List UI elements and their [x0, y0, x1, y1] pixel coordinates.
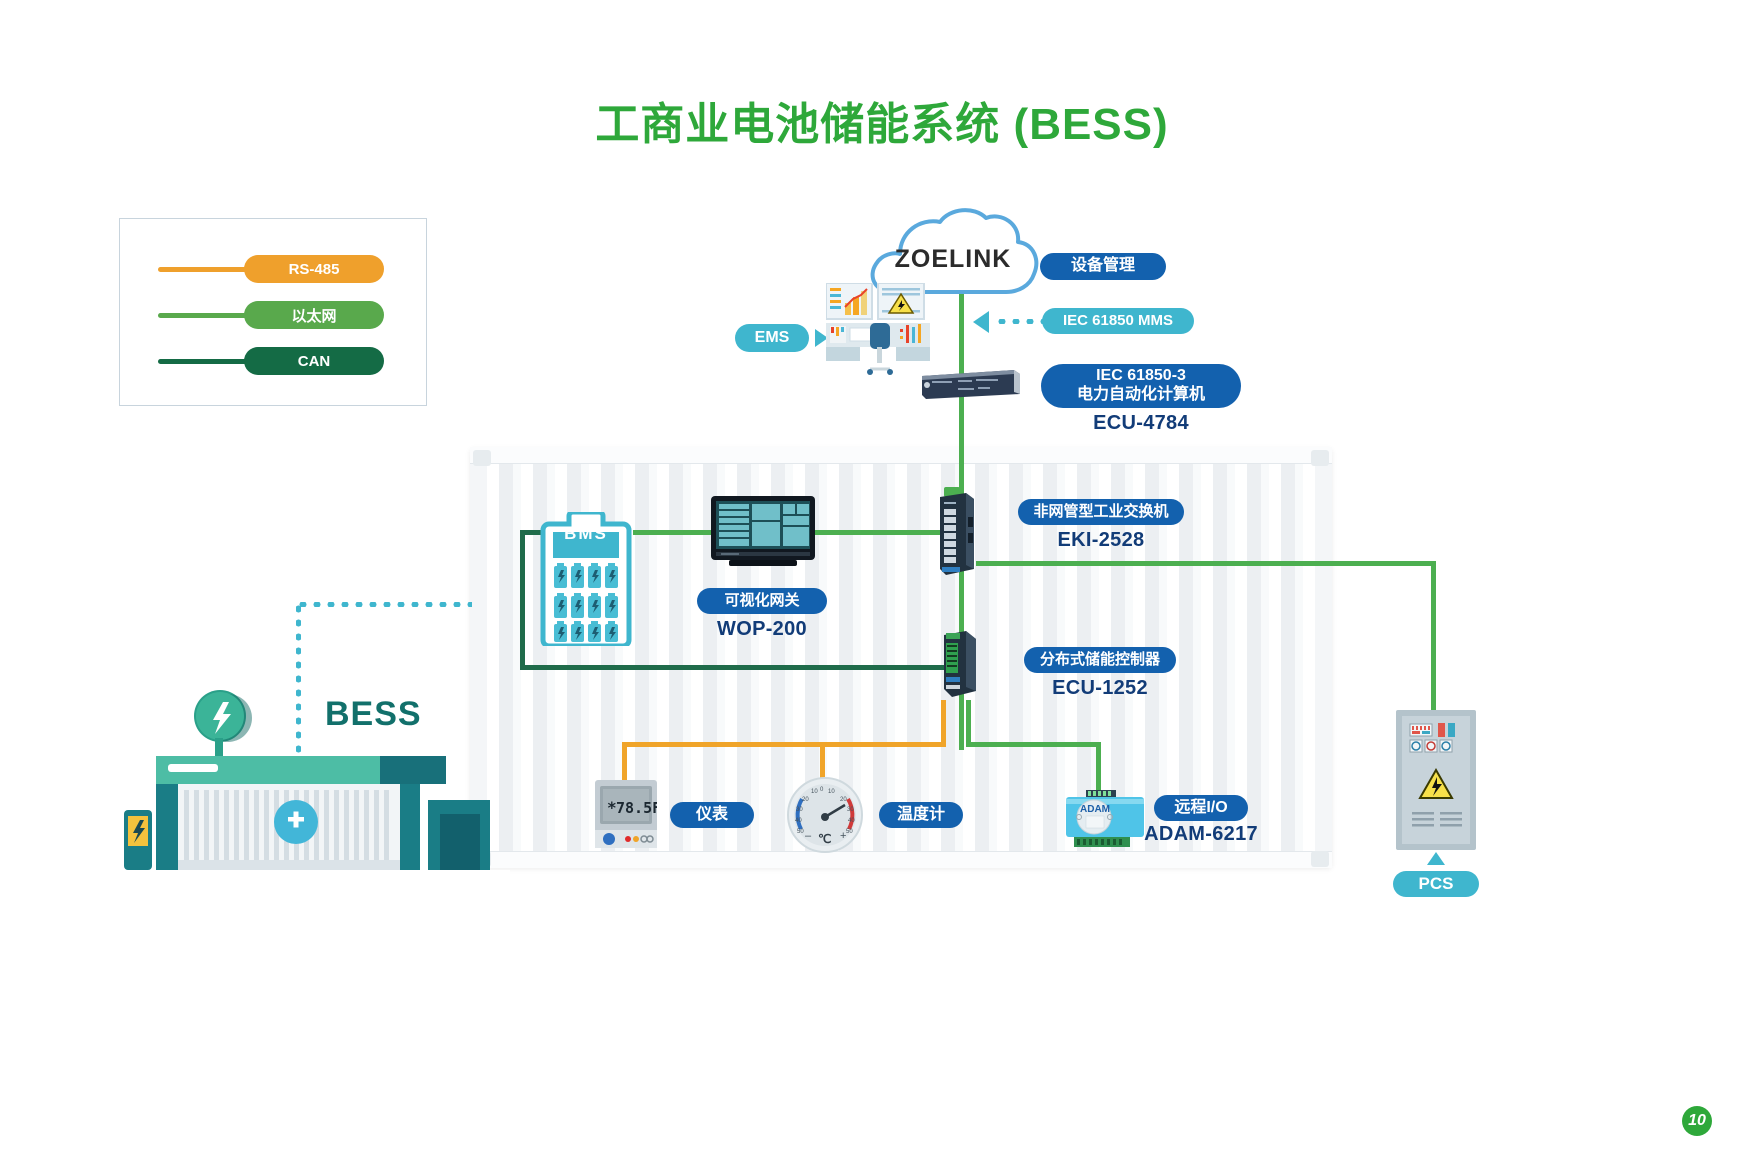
adam6217-pill[interactable]: 远程I/O — [1154, 795, 1248, 821]
pcs-pill[interactable]: PCS — [1393, 871, 1479, 897]
ethernet-line-ecu1252-down — [966, 700, 971, 746]
bess-label: BESS — [325, 695, 422, 734]
meter-pill[interactable]: 仪表 — [670, 802, 754, 828]
svg-text:78.5F: 78.5F — [616, 799, 657, 817]
ecu1252-icon — [940, 631, 980, 703]
ecu1252-model: ECU-1252 — [1024, 677, 1176, 700]
page-number-badge: 10 — [1682, 1106, 1712, 1136]
wop200-model: WOP-200 — [697, 618, 827, 641]
ems-workstation-icon — [826, 283, 930, 378]
legend-line-ethernet — [158, 313, 250, 318]
eki2528-model: EKI-2528 — [1018, 529, 1184, 552]
meter-icon: * 78.5F — [595, 780, 657, 848]
legend-line-can — [158, 359, 250, 364]
ecu1252-pill[interactable]: 分布式储能控制器 — [1024, 647, 1176, 673]
svg-text:30: 30 — [796, 807, 803, 813]
hmi-panel-icon — [711, 496, 815, 568]
iec-mms-pill[interactable]: IEC 61850 MMS — [1042, 308, 1194, 334]
thermometer-pill[interactable]: 温度计 — [879, 802, 963, 828]
legend-label-rs485: RS-485 — [244, 255, 384, 283]
container-corner-br — [1311, 851, 1329, 867]
legend-box: RS-485 以太网 CAN — [119, 218, 427, 406]
eki2528-pill[interactable]: 非网管型工业交换机 — [1018, 499, 1184, 525]
rs485-line-bus-h — [622, 742, 946, 747]
svg-text:–: – — [805, 830, 812, 842]
svg-text:℃: ℃ — [818, 832, 831, 846]
ethernet-line-ecu1252-to-adam-h — [966, 742, 1101, 747]
network-switch-icon — [936, 487, 978, 577]
svg-text:50: 50 — [846, 829, 853, 835]
can-line-bms-left-v — [520, 530, 525, 670]
ecu4784-label-line1: IEC 61850-3 — [1096, 367, 1186, 386]
rs485-line-to-ecu1252 — [941, 700, 946, 746]
svg-text:ADAM: ADAM — [1080, 804, 1110, 815]
svg-text:20: 20 — [840, 797, 847, 803]
page-title: 工商业电池储能系统 (BESS) — [0, 88, 1764, 152]
can-line-bms-to-ecu1252 — [520, 665, 950, 670]
legend-label-can: CAN — [244, 347, 384, 375]
dotted-line-bess-h — [296, 602, 472, 607]
svg-text:50: 50 — [797, 829, 804, 835]
legend-item-rs485: RS-485 — [120, 255, 426, 283]
container-corner-tl — [473, 450, 491, 466]
ems-pill[interactable]: EMS — [735, 324, 809, 352]
mms-arrow-icon — [973, 311, 989, 333]
diagram-canvas: 工商业电池储能系统 (BESS) RS-485 以太网 CAN — [0, 0, 1764, 1172]
wop200-pill[interactable]: 可视化网关 — [697, 588, 827, 614]
container-bottom-rail — [470, 851, 1332, 868]
legend-item-can: CAN — [120, 347, 426, 375]
bms-label: BMS — [539, 524, 633, 544]
cloud-label: ZOELINK — [866, 245, 1040, 274]
svg-text:10: 10 — [828, 789, 835, 795]
adam6217-model: ADAM-6217 — [1132, 823, 1270, 846]
ecu4784-pill[interactable]: IEC 61850-3 电力自动化计算机 — [1041, 364, 1241, 408]
legend-line-rs485 — [158, 267, 250, 272]
ethernet-line-switch-to-pcs-h — [976, 561, 1436, 566]
container-corner-tr — [1311, 450, 1329, 466]
device-management-pill[interactable]: 设备管理 — [1040, 253, 1166, 280]
pcs-arrow-icon — [1427, 852, 1445, 865]
pcs-cabinet-icon — [1396, 710, 1476, 850]
mms-dotted-line — [995, 319, 1043, 324]
ethernet-line-hmi-to-switch — [815, 530, 940, 535]
ecu4784-model: ECU-4784 — [1041, 412, 1241, 435]
bess-building-illustration — [110, 680, 510, 880]
container-top-rail — [470, 447, 1332, 464]
thermometer-icon: 01010 2020 3030 4040 5050 – + ℃ — [787, 777, 863, 853]
ecu4784-label-line2: 电力自动化计算机 — [1077, 386, 1205, 405]
svg-text:20: 20 — [802, 797, 809, 803]
svg-text:30: 30 — [847, 807, 854, 813]
legend-item-ethernet: 以太网 — [120, 301, 426, 329]
ethernet-line-bms-to-hmi — [633, 530, 713, 535]
legend-label-ethernet: 以太网 — [244, 301, 384, 329]
ethernet-line-switch-to-pcs-v — [1431, 561, 1436, 711]
rack-server-icon — [918, 368, 1022, 400]
rs485-line-to-meter — [622, 742, 627, 784]
svg-text:+: + — [840, 830, 846, 842]
svg-text:10: 10 — [811, 789, 818, 795]
svg-text:40: 40 — [848, 818, 855, 824]
svg-text:40: 40 — [795, 818, 802, 824]
